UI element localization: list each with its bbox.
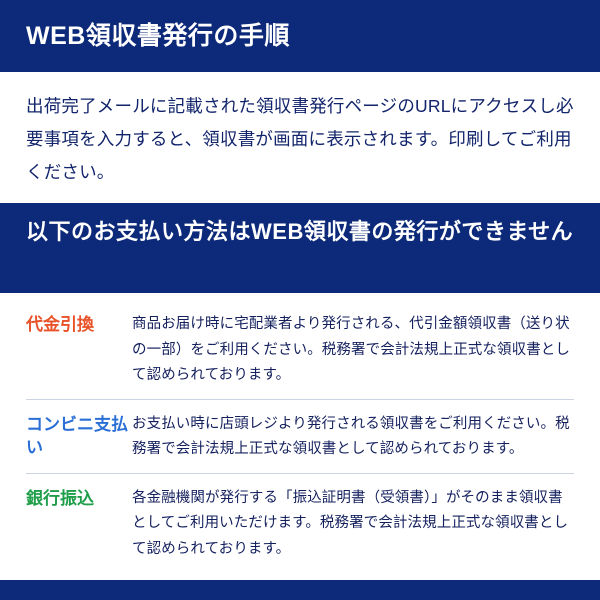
method-label-bank-transfer: 銀行振込 [26,486,130,510]
method-description-bank-transfer: 各金融機関が発行する「振込証明書（受領書）」がそのまま領収書としてご利用いただけ… [130,486,574,563]
list-item: 銀行振込 各金融機関が発行する「振込証明書（受領書）」がそのまま領収書としてご利… [0,474,600,573]
bottom-strip [0,580,600,600]
method-label-cash-on-delivery: 代金引換 [26,312,130,336]
payment-methods-list: 代金引換 商品お届け時に宅配業者より発行される、代引金額領収書（送り状の一部）を… [0,300,600,572]
method-label-convenience-store: コンビニ支払い [26,412,130,459]
page-title: WEB領収書発行の手順 [0,21,290,51]
list-item: 代金引換 商品お届け時に宅配業者より発行される、代引金額領収書（送り状の一部）を… [0,300,600,399]
intro-text: 出荷完了メールに記載された領収書発行ページのURLにアクセスし必要事項を入力する… [26,90,574,189]
method-description-cash-on-delivery: 商品お届け時に宅配業者より発行される、代引金額領収書（送り状の一部）をご利用くだ… [130,312,574,389]
notice-band: 以下のお支払い方法はWEB領収書の発行ができません [0,203,600,293]
header-band: WEB領収書発行の手順 [0,0,600,72]
method-description-convenience-store: お支払い時に店頭レジより発行される領収書をご利用ください。税務署で会計法規上正式… [130,412,574,463]
notice-title: 以下のお支払い方法はWEB領収書の発行ができません [26,216,574,247]
receipt-info-page: WEB領収書発行の手順 出荷完了メールに記載された領収書発行ページのURLにアク… [0,0,600,600]
list-item: コンビニ支払い お支払い時に店頭レジより発行される領収書をご利用ください。税務署… [0,400,600,473]
intro-block: 出荷完了メールに記載された領収書発行ページのURLにアクセスし必要事項を入力する… [0,72,600,203]
